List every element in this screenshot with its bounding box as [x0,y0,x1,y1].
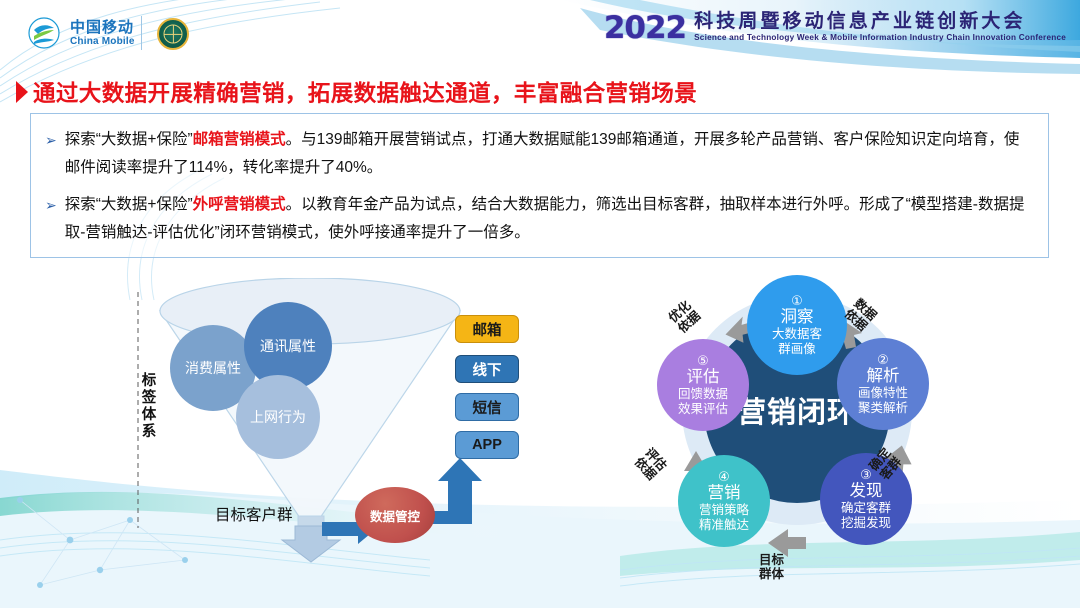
node-number: ③ [860,468,872,482]
bullet-highlight: 邮箱营销模式 [193,131,286,148]
arc-label-target-group: 目标 群体 [759,553,784,581]
bullet-marker-icon: ➢ [45,191,57,247]
bullet-list: ➢ 探索“大数据+保险”邮箱营销模式。与139邮箱开展营销试点，打通大数据赋能1… [31,114,1048,247]
node-line1: 画像特性 [858,386,908,401]
bullet-lead: 探索“大数据+保险” [65,131,193,148]
loop-node-insight: ① 洞察 大数据客 群画像 [747,275,847,375]
conference-year: 2022 [604,15,686,43]
slide-canvas: 中国移动 China Mobile 2022 科技周暨移动信息产业链创新大会 S… [0,0,1080,608]
arc-label-line1: 目标 [759,553,784,567]
node-line2: 挖掘发现 [841,516,891,531]
bullet-marker-icon: ➢ [45,126,57,182]
loop-node-marketing: ④ 营销 营销策略 精准触达 [678,455,770,547]
node-line2: 聚类解析 [858,401,908,416]
channel-app[interactable]: APP [455,431,519,459]
tag-system-funnel-diagram: 标签体系 消费属性 通讯属性 上网行为 邮箱 线下 短信 APP 目标客户群 数… [120,278,550,568]
channel-sms[interactable]: 短信 [455,393,519,421]
marketing-closed-loop-diagram: 营销闭环 ① 洞察 大数据客 群画像 ② 解析 [630,275,960,595]
organization-seal-icon [157,18,189,50]
conference-title-cn: 科技周暨移动信息产业链创新大会 [694,12,1066,31]
node-title: 营销 [708,484,741,503]
china-mobile-logo-icon [28,17,60,49]
seal-globe-icon [164,25,183,44]
china-mobile-brand: 中国移动 China Mobile [28,17,135,49]
bullet-highlight: 外呼营销模式 [193,196,286,213]
node-line1: 回馈数据 [678,387,728,402]
node-title: 解析 [867,367,900,386]
bullet-lead: 探索“大数据+保险” [65,196,193,213]
node-title: 评估 [687,368,720,387]
conference-logo: 2022 科技周暨移动信息产业链创新大会 Science and Technol… [604,12,1066,43]
target-customer-group-label: 目标客户群 [215,503,293,525]
loop-node-analysis: ② 解析 画像特性 聚类解析 [837,338,929,430]
arc-label-line2: 群体 [759,567,784,581]
node-title: 洞察 [781,308,814,327]
loop-node-evaluation: ⑤ 评估 回馈数据 效果评估 [657,339,749,431]
list-item: ➢ 探索“大数据+保险”外呼营销模式。以教育年金产品为试点，结合大数据能力，筛选… [45,191,1034,247]
china-mobile-wordmark: 中国移动 China Mobile [70,20,135,47]
bubble-internet-behavior: 上网行为 [236,375,320,459]
slide-title-row: 通过大数据开展精确营销，拓展数据触达通道，丰富融合营销场景 [16,76,697,108]
list-item: ➢ 探索“大数据+保险”邮箱营销模式。与139邮箱开展营销试点，打通大数据赋能1… [45,126,1034,182]
slide-header: 中国移动 China Mobile 2022 科技周暨移动信息产业链创新大会 S… [0,0,1080,66]
brand-name-cn: 中国移动 [70,20,135,35]
tag-system-label: 标签体系 [140,373,158,441]
node-line1: 大数据客 [772,327,822,342]
node-title: 发现 [850,482,883,501]
node-line2: 效果评估 [678,402,728,417]
node-line2: 精准触达 [699,518,749,533]
logo-divider [141,16,142,50]
conference-title-en: Science and Technology Week & Mobile Inf… [694,34,1066,42]
node-number: ⑤ [697,354,709,368]
node-line1: 确定客群 [841,501,891,516]
node-number: ④ [718,470,730,484]
node-line1: 营销策略 [699,503,749,518]
node-number: ② [877,353,889,367]
node-number: ① [791,294,803,308]
conference-title-group: 科技周暨移动信息产业链创新大会 Science and Technology W… [694,12,1066,43]
triangle-bullet-icon [16,81,28,103]
channel-email[interactable]: 邮箱 [455,315,519,343]
node-line2: 群画像 [778,342,816,357]
channel-offline[interactable]: 线下 [455,355,519,383]
bullet-text: 探索“大数据+保险”外呼营销模式。以教育年金产品为试点，结合大数据能力，筛选出目… [65,191,1034,247]
bullet-text: 探索“大数据+保险”邮箱营销模式。与139邮箱开展营销试点，打通大数据赋能139… [65,126,1034,182]
content-textbox: ➢ 探索“大数据+保险”邮箱营销模式。与139邮箱开展营销试点，打通大数据赋能1… [30,113,1049,258]
data-governance-node: 数据管控 [355,487,435,543]
page-title: 通过大数据开展精确营销，拓展数据触达通道，丰富融合营销场景 [33,76,697,108]
brand-name-en: China Mobile [70,37,135,47]
